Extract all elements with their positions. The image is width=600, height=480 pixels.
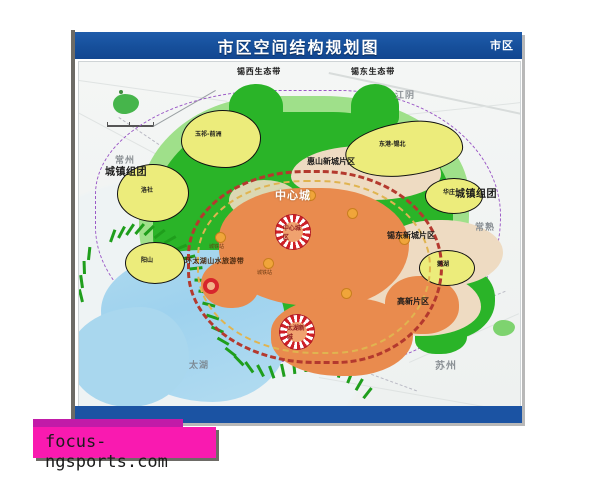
- label-xidong-new-town-area: 锡东新城片区: [387, 232, 435, 240]
- basemap-city-dot: [119, 90, 123, 94]
- label-huishan-new-town-area: 惠山新城片区: [307, 158, 355, 166]
- label-town-cluster-east: 城镇组团: [455, 190, 497, 200]
- page-title: 市区空间结构规划图: [75, 32, 522, 59]
- node-rail-station: [215, 232, 226, 243]
- map-title-bar: 市区空间结构规划图 市区: [75, 32, 522, 59]
- node-label-central-urban-district: 中心城区: [283, 222, 303, 242]
- label-taihu-lake: 太湖: [189, 362, 209, 371]
- node-central-urban-district: 中心城区: [275, 214, 311, 250]
- label-suzhou: 苏州: [435, 362, 457, 372]
- map-canvas: 中心城区 太湖新城 城铁站 城铁站 锡西生态带 锡东生态带 江阴 常州: [78, 61, 521, 407]
- label-central-city: 中心城: [275, 190, 311, 201]
- node-rail-station: [341, 288, 352, 299]
- screenshot-root: 市区空间结构规划图 市区: [0, 0, 600, 480]
- label-taihu-scenic-tourism-belt: 环太湖山水旅游带: [185, 258, 244, 265]
- node-label-taihu-new-town: 太湖新城: [287, 322, 307, 342]
- node-station-label: 城铁站: [257, 269, 272, 276]
- zone-yuqi-qianzhou: [181, 110, 261, 168]
- label-xidong-ecological-belt: 锡东生态带: [351, 68, 395, 76]
- label-town-cluster-west: 城镇组团: [105, 168, 147, 178]
- node-station-label: 城铁站: [209, 243, 224, 250]
- watermark-shadow-right: [216, 430, 219, 458]
- label-jiangyin: 江阴: [395, 92, 415, 101]
- label-yuqi-qianzhou: 玉祁-前洲: [195, 132, 222, 138]
- scale-tick: [107, 122, 108, 127]
- zone-yangshan: [125, 242, 185, 284]
- watermark-banner: focus-ngsports.com: [33, 427, 216, 458]
- node-rail-station: [347, 208, 358, 219]
- scale-tick: [129, 122, 130, 127]
- watermark-accent-strip: [33, 419, 183, 427]
- label-donggang-xibei: 东港-锡北: [379, 142, 406, 148]
- node-secondary-lihu: [203, 278, 219, 294]
- region-badge: 市区: [490, 37, 514, 53]
- label-changzhou: 常州: [115, 157, 135, 166]
- map-document-frame: 市区空间结构规划图 市区: [75, 32, 522, 423]
- label-xixi-ecological-belt: 锡西生态带: [237, 68, 281, 76]
- label-luoshe: 洛社: [141, 188, 153, 194]
- node-taihu-new-town: 太湖新城: [279, 314, 315, 350]
- ecological-green-corridor-east: [351, 84, 399, 128]
- node-rail-station: [263, 258, 274, 269]
- label-changshu: 常熟: [475, 224, 495, 233]
- watermark-text: focus-ngsports.com: [45, 432, 216, 472]
- label-ehu: 鹅湖: [437, 262, 449, 268]
- label-yangshan: 阳山: [141, 258, 153, 264]
- label-high-tech-area: 高新片区: [397, 298, 429, 306]
- label-huazhuang: 华庄: [443, 190, 455, 196]
